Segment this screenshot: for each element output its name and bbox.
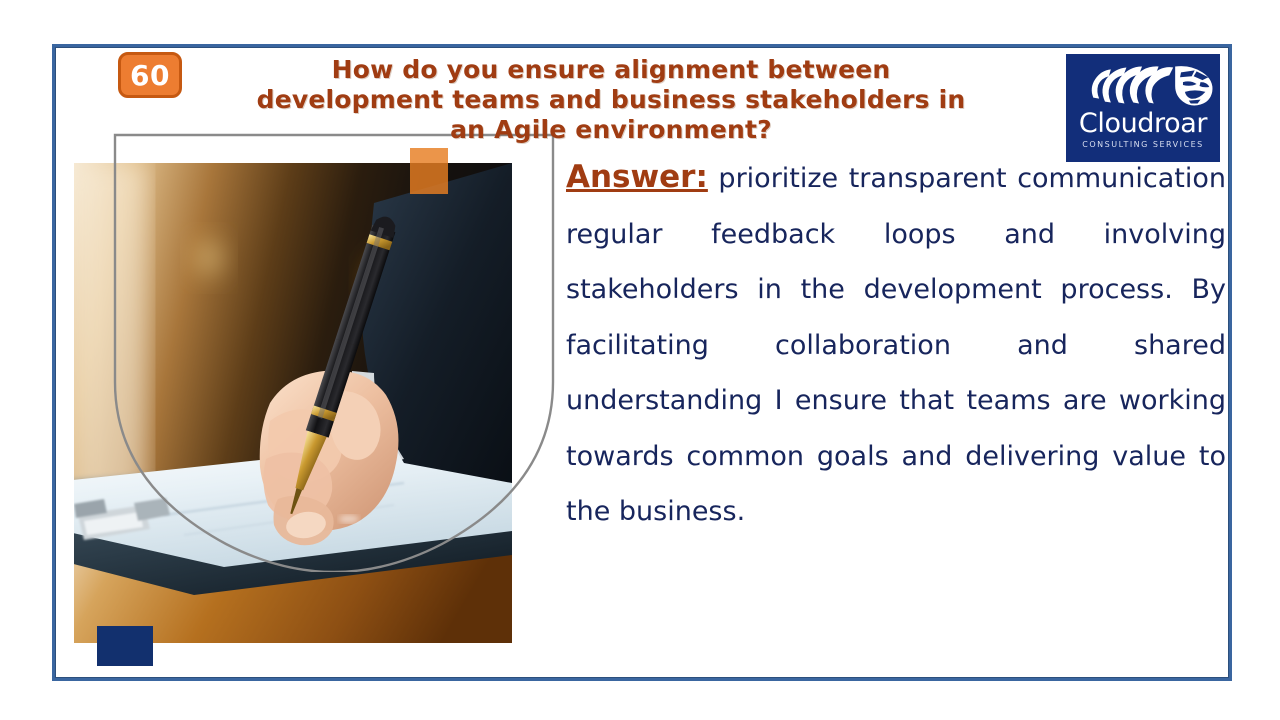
question-number-badge: 60 [118, 52, 182, 98]
answer-body: prioritize transparent communication reg… [566, 163, 1226, 527]
navy-accent-square [97, 626, 153, 666]
answer-text-block: Answer: prioritize transparent communica… [566, 150, 1226, 675]
logo-tagline: CONSULTING SERVICES [1066, 140, 1220, 149]
cloudroar-logo: Cloudroar CONSULTING SERVICES [1064, 52, 1222, 164]
page-title: How do you ensure alignment between deve… [236, 55, 986, 145]
answer-label: Answer: [566, 159, 708, 195]
logo-name: Cloudroar [1066, 109, 1220, 138]
photo-artwork [74, 163, 512, 643]
lion-head-icon [1066, 58, 1220, 112]
orange-accent-square [410, 148, 448, 194]
signing-document-photo [74, 163, 512, 643]
slide-canvas: 60 How do you ensure alignment between d… [0, 0, 1280, 720]
